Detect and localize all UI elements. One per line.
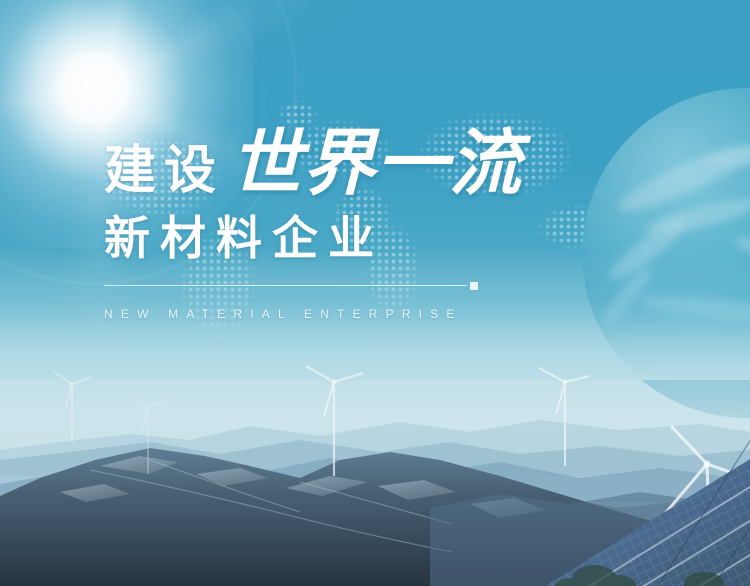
banner-text-block: 建设 世界一流 新材料企业 NEW MATERIAL ENTERPRISE bbox=[104, 128, 624, 321]
solar-panel-array bbox=[458, 392, 750, 586]
headline-accent-text: 世界一流 bbox=[230, 128, 522, 200]
lens-flare-blob bbox=[58, 76, 130, 128]
divider-line bbox=[104, 285, 467, 286]
wind-turbine-icon bbox=[128, 388, 168, 476]
headline-plain-text: 建设 bbox=[104, 145, 224, 197]
divider bbox=[104, 282, 478, 290]
hero-banner: 建设 世界一流 新材料企业 NEW MATERIAL ENTERPRISE bbox=[0, 0, 750, 586]
wind-turbine-icon bbox=[50, 368, 94, 444]
banner-subtitle: NEW MATERIAL ENTERPRISE bbox=[104, 307, 624, 321]
headline-line-2: 新材料企业 bbox=[104, 212, 624, 265]
landscape-scene bbox=[0, 300, 750, 586]
headline-line-1: 建设 世界一流 bbox=[104, 128, 624, 210]
wind-turbine-icon bbox=[300, 358, 366, 480]
divider-square-marker bbox=[470, 282, 478, 290]
lens-flare-dot bbox=[88, 96, 95, 103]
